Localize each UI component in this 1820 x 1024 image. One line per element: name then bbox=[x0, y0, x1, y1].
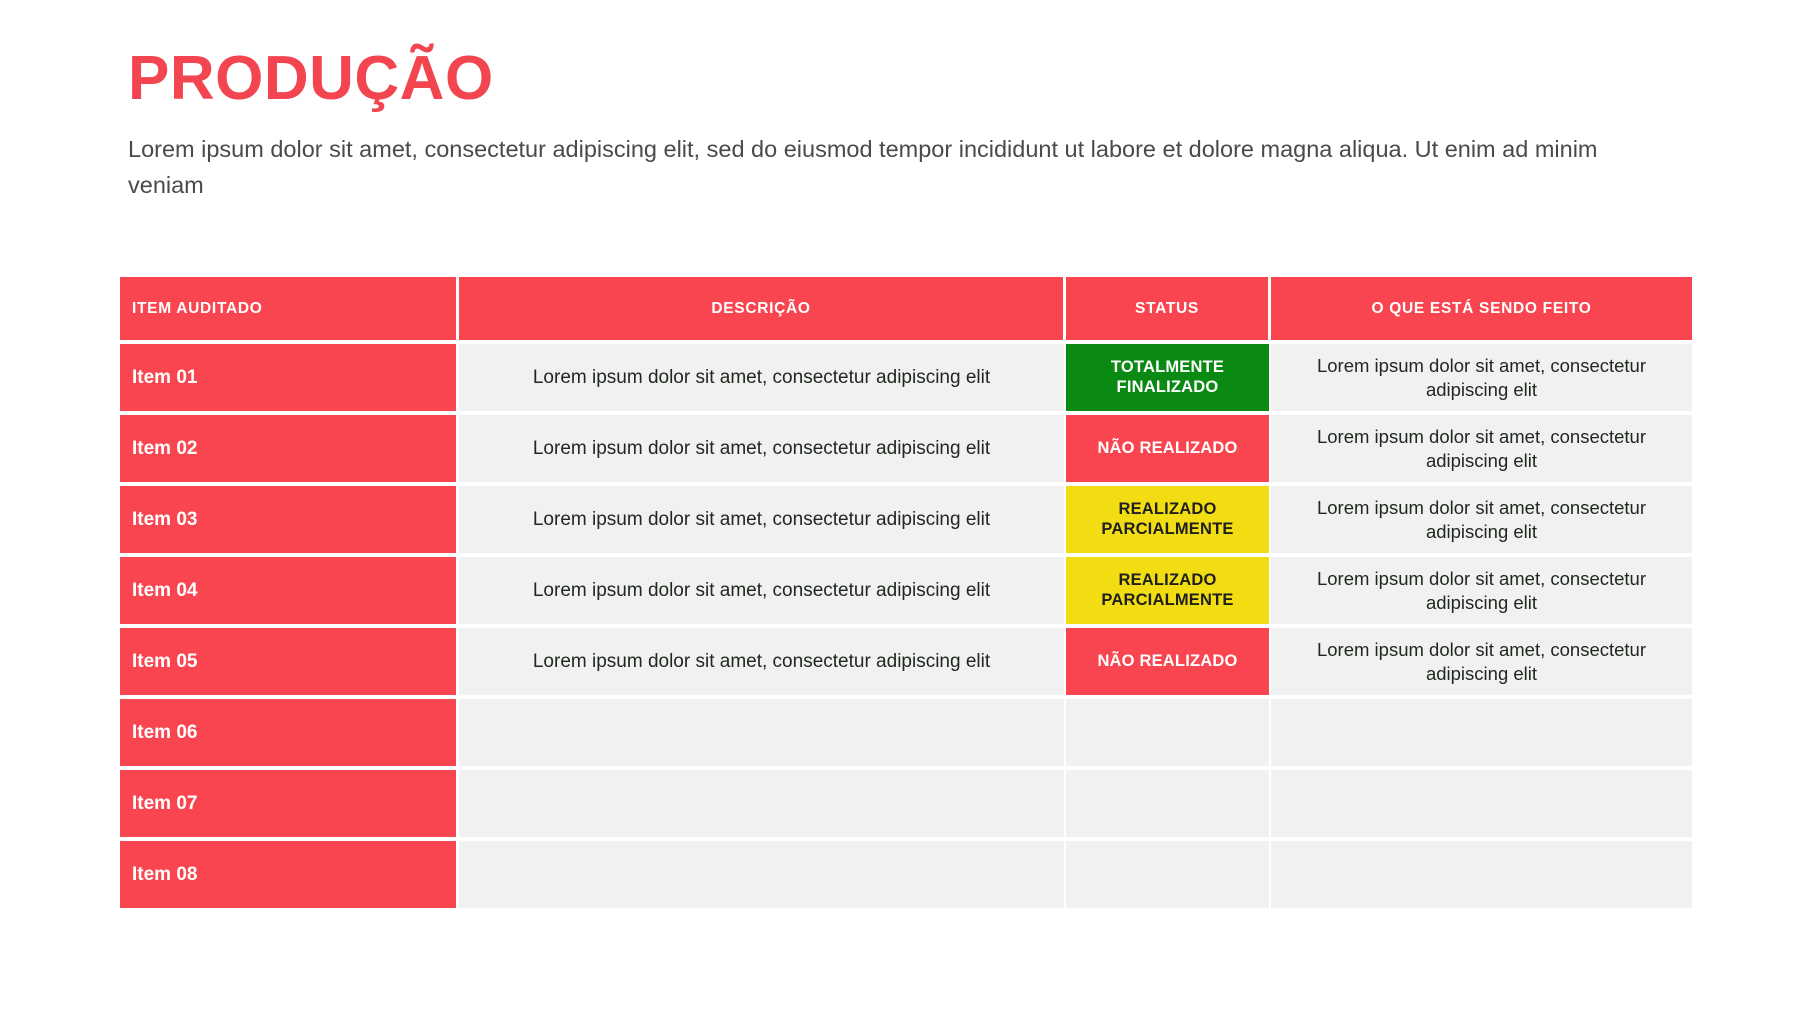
cell-description: Lorem ipsum dolor sit amet, consectetur … bbox=[459, 628, 1066, 695]
cell-item-label: Item 02 bbox=[120, 415, 459, 482]
table-body: Item 01Lorem ipsum dolor sit amet, conse… bbox=[120, 344, 1692, 908]
cell-action: Lorem ipsum dolor sit amet, consectetur … bbox=[1271, 415, 1692, 482]
status-badge: NÃO REALIZADO bbox=[1066, 415, 1269, 482]
cell-item-label: Item 04 bbox=[120, 557, 459, 624]
table-row[interactable]: Item 08 bbox=[120, 841, 1692, 908]
table-row[interactable]: Item 05Lorem ipsum dolor sit amet, conse… bbox=[120, 628, 1692, 695]
column-header-o-que-esta-sendo-feito: O QUE ESTÁ SENDO FEITO bbox=[1271, 277, 1692, 340]
cell-status: REALIZADO PARCIALMENTE bbox=[1066, 486, 1271, 553]
cell-action bbox=[1271, 841, 1692, 908]
cell-action bbox=[1271, 699, 1692, 766]
status-badge: REALIZADO PARCIALMENTE bbox=[1066, 557, 1269, 624]
cell-item-label: Item 03 bbox=[120, 486, 459, 553]
cell-description: Lorem ipsum dolor sit amet, consectetur … bbox=[459, 344, 1066, 411]
cell-description bbox=[459, 699, 1066, 766]
table-row[interactable]: Item 04Lorem ipsum dolor sit amet, conse… bbox=[120, 557, 1692, 624]
cell-action bbox=[1271, 770, 1692, 837]
cell-item-label: Item 08 bbox=[120, 841, 459, 908]
slide-header: PRODUÇÃO Lorem ipsum dolor sit amet, con… bbox=[128, 48, 1698, 203]
column-header-descricao: DESCRIÇÃO bbox=[459, 277, 1066, 340]
table-row[interactable]: Item 01Lorem ipsum dolor sit amet, conse… bbox=[120, 344, 1692, 411]
table-header-row: ITEM AUDITADO DESCRIÇÃO STATUS O QUE EST… bbox=[120, 277, 1692, 340]
cell-description: Lorem ipsum dolor sit amet, consectetur … bbox=[459, 415, 1066, 482]
page-subtitle: Lorem ipsum dolor sit amet, consectetur … bbox=[128, 132, 1628, 203]
cell-action: Lorem ipsum dolor sit amet, consectetur … bbox=[1271, 486, 1692, 553]
page-title: PRODUÇÃO bbox=[128, 48, 1698, 110]
column-header-item-auditado: ITEM AUDITADO bbox=[120, 277, 459, 340]
cell-action: Lorem ipsum dolor sit amet, consectetur … bbox=[1271, 628, 1692, 695]
cell-item-label: Item 05 bbox=[120, 628, 459, 695]
cell-item-label: Item 07 bbox=[120, 770, 459, 837]
status-badge: TOTALMENTE FINALIZADO bbox=[1066, 344, 1269, 411]
cell-status: NÃO REALIZADO bbox=[1066, 628, 1271, 695]
table-row[interactable]: Item 06 bbox=[120, 699, 1692, 766]
cell-status: NÃO REALIZADO bbox=[1066, 415, 1271, 482]
cell-description bbox=[459, 770, 1066, 837]
status-badge bbox=[1066, 699, 1269, 766]
cell-action: Lorem ipsum dolor sit amet, consectetur … bbox=[1271, 557, 1692, 624]
cell-status bbox=[1066, 770, 1271, 837]
cell-item-label: Item 06 bbox=[120, 699, 459, 766]
status-badge bbox=[1066, 841, 1269, 908]
column-header-status: STATUS bbox=[1066, 277, 1271, 340]
cell-status bbox=[1066, 841, 1271, 908]
audit-table: ITEM AUDITADO DESCRIÇÃO STATUS O QUE EST… bbox=[120, 277, 1692, 908]
status-badge: NÃO REALIZADO bbox=[1066, 628, 1269, 695]
table-row[interactable]: Item 02Lorem ipsum dolor sit amet, conse… bbox=[120, 415, 1692, 482]
cell-description bbox=[459, 841, 1066, 908]
status-badge: REALIZADO PARCIALMENTE bbox=[1066, 486, 1269, 553]
cell-status: REALIZADO PARCIALMENTE bbox=[1066, 557, 1271, 624]
table-row[interactable]: Item 03Lorem ipsum dolor sit amet, conse… bbox=[120, 486, 1692, 553]
cell-action: Lorem ipsum dolor sit amet, consectetur … bbox=[1271, 344, 1692, 411]
status-badge bbox=[1066, 770, 1269, 837]
cell-item-label: Item 01 bbox=[120, 344, 459, 411]
cell-description: Lorem ipsum dolor sit amet, consectetur … bbox=[459, 557, 1066, 624]
cell-status bbox=[1066, 699, 1271, 766]
cell-status: TOTALMENTE FINALIZADO bbox=[1066, 344, 1271, 411]
table-row[interactable]: Item 07 bbox=[120, 770, 1692, 837]
slide-canvas: PRODUÇÃO Lorem ipsum dolor sit amet, con… bbox=[0, 0, 1820, 1024]
cell-description: Lorem ipsum dolor sit amet, consectetur … bbox=[459, 486, 1066, 553]
